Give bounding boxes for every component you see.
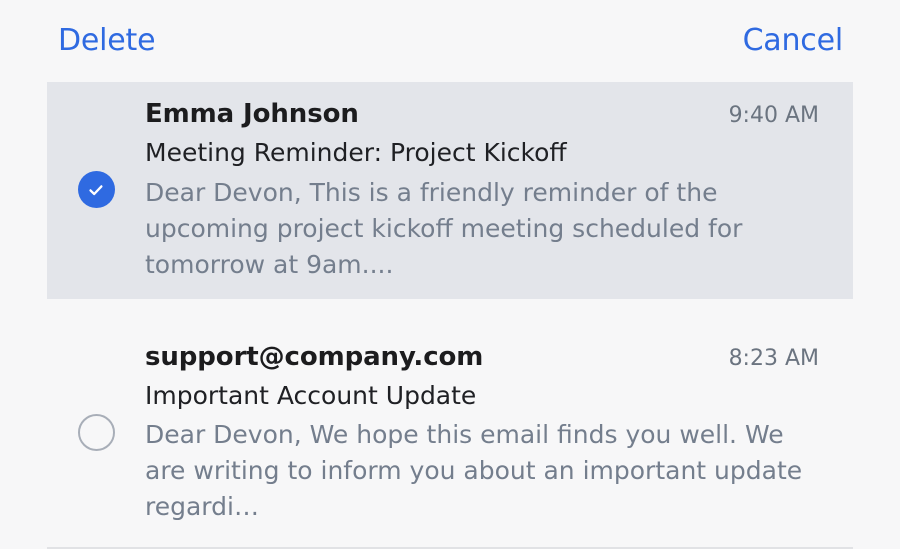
message-list-item[interactable]: Emma Johnson 9:40 AM Meeting Reminder: P… (47, 82, 853, 299)
list-spacer (0, 299, 900, 316)
message-header-line: Emma Johnson 9:40 AM (145, 97, 819, 132)
cancel-button[interactable]: Cancel (743, 26, 843, 56)
selection-checkbox-cell (47, 414, 145, 451)
selection-checkbox-cell (47, 171, 145, 208)
message-header-line: support@company.com 8:23 AM (145, 340, 819, 375)
message-sender: Emma Johnson (145, 97, 359, 132)
message-timestamp: 8:23 AM (729, 344, 819, 375)
message-sender: support@company.com (145, 340, 483, 375)
message-content: support@company.com 8:23 AM Important Ac… (145, 340, 853, 526)
delete-button[interactable]: Delete (58, 26, 155, 56)
message-list-item[interactable]: support@company.com 8:23 AM Important Ac… (47, 316, 853, 548)
message-list: Emma Johnson 9:40 AM Meeting Reminder: P… (0, 82, 900, 549)
check-circle-filled-icon[interactable] (78, 171, 115, 208)
email-selection-screen: Delete Cancel Emma Johnson 9:40 AM (0, 0, 900, 526)
circle-outline-icon[interactable] (78, 414, 115, 451)
action-toolbar: Delete Cancel (0, 0, 900, 82)
message-timestamp: 9:40 AM (729, 101, 819, 132)
message-preview: Dear Devon, This is a friendly reminder … (145, 175, 817, 283)
message-content: Emma Johnson 9:40 AM Meeting Reminder: P… (145, 97, 853, 283)
message-subject: Important Account Update (145, 378, 819, 414)
message-subject: Meeting Reminder: Project Kickoff (145, 135, 819, 171)
message-preview: Dear Devon, We hope this email finds you… (145, 417, 817, 525)
